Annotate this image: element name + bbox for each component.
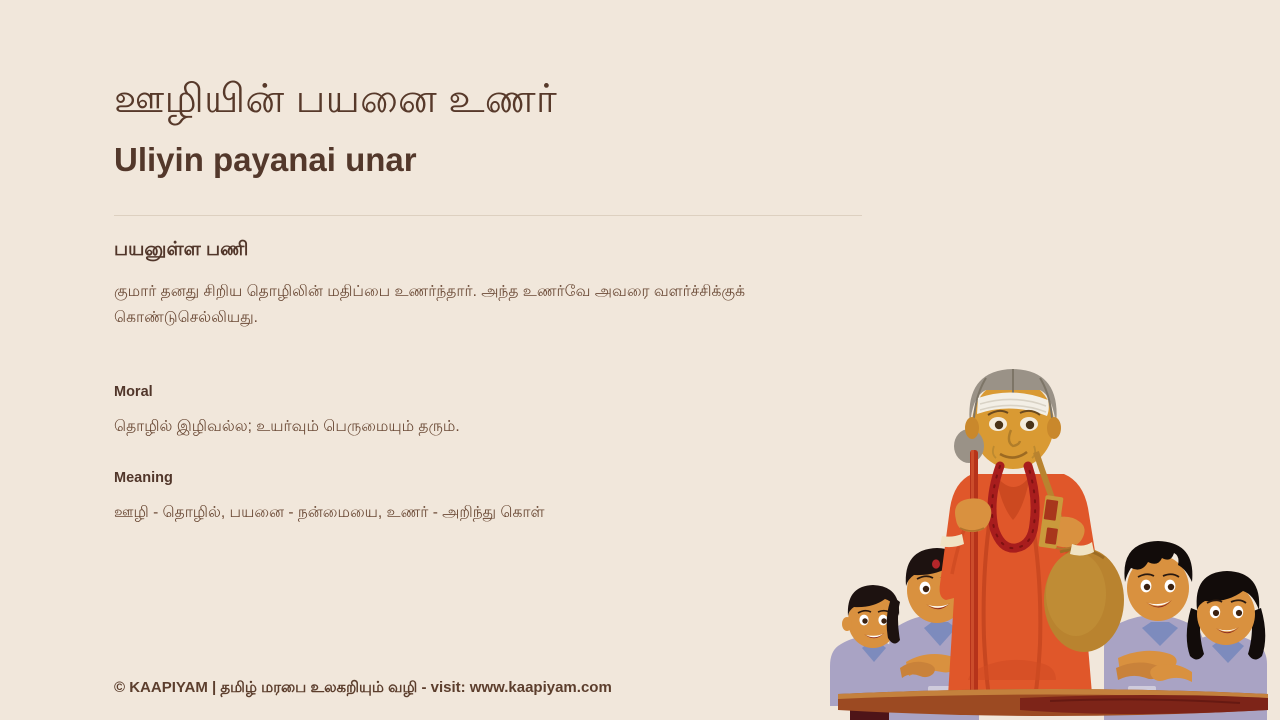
story-card: ஊழியின் பயனை உணர் Uliyin payanai unar பய… [0,0,1280,720]
page-title-tamil: ஊழியின் பயனை உணர் [114,76,557,123]
header-divider [114,215,862,216]
story-heading: பயனுள்ள பணி [114,238,854,263]
story-illustration [820,368,1280,720]
wooden-bench [838,689,1268,716]
moral-section: Moral தொழில் இழிவல்ல; உயர்வும் பெருமையும… [114,383,854,441]
meaning-label: Meaning [114,469,854,488]
sage-figure [940,369,1124,706]
page-title-transliteration: Uliyin payanai unar [114,140,417,180]
meaning-text: ஊழி - தொழில், பயனை - நன்மையை, உணர் - அறி… [114,500,844,527]
sage-and-children-illustration [820,368,1280,720]
story-text: குமார் தனது சிறிய தொழிலின் மதிப்பை உணர்ந… [114,279,844,332]
story-section: பயனுள்ள பணி குமார் தனது சிறிய தொழிலின் ம… [114,238,854,332]
footer-credit: © KAAPIYAM | தமிழ் மரபை உலகறியும் வழி - … [114,678,612,698]
moral-label: Moral [114,383,854,402]
meaning-section: Meaning ஊழி - தொழில், பயனை - நன்மையை, உண… [114,469,854,527]
moral-text: தொழில் இழிவல்ல; உயர்வும் பெருமையும் தரும… [114,414,844,441]
